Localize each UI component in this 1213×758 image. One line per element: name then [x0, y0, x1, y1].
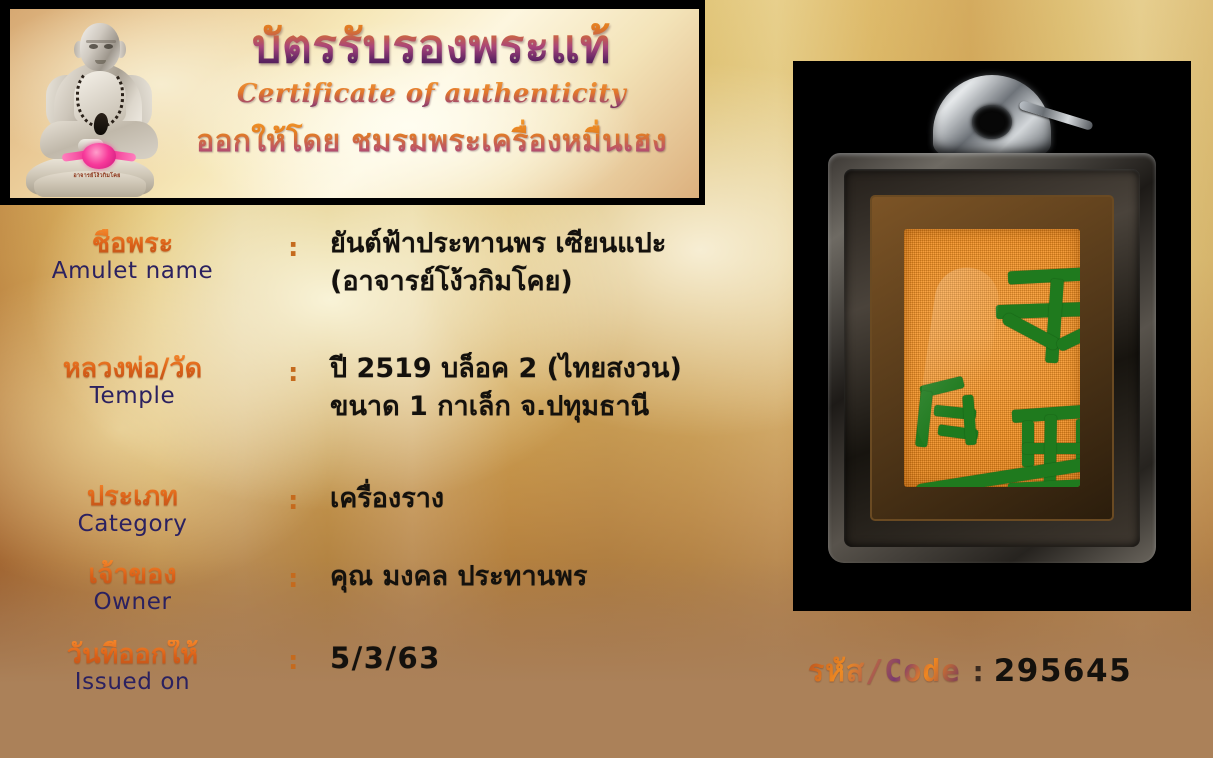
certificate-title-thai: บัตรรับรองพระแท้	[170, 15, 693, 73]
amulet-orange-cloth	[904, 229, 1080, 487]
field-separator: :	[288, 564, 298, 594]
field-label-amulet-name: ชื่อพระ Amulet name	[0, 229, 265, 284]
header-banner-inner: อาจารย์โง้วกิมโคย บัตรรับรองพระแท้ Certi…	[10, 9, 699, 198]
glyph-stroke	[962, 395, 976, 446]
amulet-object	[828, 153, 1156, 563]
field-value-category: เครื่องราง	[330, 480, 790, 518]
field-value-issued-on: 5/3/63	[330, 638, 790, 679]
header-banner: อาจารย์โง้วกิมโคย บัตรรับรองพระแท้ Certi…	[0, 0, 705, 205]
field-label-owner: เจ้าของ Owner	[0, 560, 265, 615]
field-value-line: 5/3/63	[330, 638, 790, 679]
header-text-block: บัตรรับรองพระแท้ Certificate of authenti…	[170, 15, 693, 165]
glyph-stroke	[1008, 266, 1080, 284]
field-label-issued-on: วันที่ออกให้ Issued on	[0, 640, 265, 695]
field-value-line: (อาจารย์โง้วกิมโคย)	[330, 263, 790, 301]
amulet-case-outer	[828, 153, 1156, 563]
amulet-case-rim	[870, 195, 1114, 521]
field-label-english: Temple	[0, 384, 265, 409]
field-label-english: Amulet name	[0, 259, 265, 284]
field-label-temple: หลวงพ่อ/วัด Temple	[0, 354, 265, 409]
field-label-english: Category	[0, 512, 265, 537]
certificate-page: อาจารย์โง้วกิมโคย บัตรรับรองพระแท้ Certi…	[0, 0, 1213, 758]
code-value: 295645	[994, 653, 1132, 689]
field-label-thai: เจ้าของ	[0, 560, 265, 589]
code-label: รหัส/Code	[808, 648, 961, 695]
pink-pompom	[82, 143, 116, 169]
statue-plaque-text: อาจารย์โง้วกิมโคย	[62, 173, 132, 181]
field-label-thai: ชื่อพระ	[0, 229, 265, 258]
field-value-line: คุณ มงคล ประทานพร	[330, 558, 790, 596]
field-value-owner: คุณ มงคล ประทานพร	[330, 558, 790, 596]
monk-statue-image: อาจารย์โง้วกิมโคย	[16, 13, 162, 198]
field-label-thai: ประเภท	[0, 482, 265, 511]
glyph-stroke	[1076, 419, 1080, 463]
field-separator: :	[288, 486, 298, 516]
field-label-thai: หลวงพ่อ/วัด	[0, 354, 265, 383]
amulet-hanger-hole	[972, 105, 1012, 139]
code-separator: :	[973, 655, 984, 688]
field-value-line: เครื่องราง	[330, 480, 790, 518]
field-value-line: ปี 2519 บล็อค 2 (ไทยสงวน)	[330, 350, 790, 388]
field-label-category: ประเภท Category	[0, 482, 265, 537]
certificate-title-english: Certificate of authenticity	[170, 79, 693, 109]
amulet-photo-frame	[793, 61, 1191, 611]
statue-brow	[86, 40, 116, 43]
field-separator: :	[288, 358, 298, 388]
field-separator: :	[288, 233, 298, 263]
glyph-stroke	[915, 391, 933, 448]
statue-left-eye	[89, 44, 98, 49]
amulet-case-middle	[844, 169, 1140, 547]
field-value-line: ยันต์ฟ้าประทานพร เซียนแปะ	[330, 225, 790, 263]
field-value-amulet-name: ยันต์ฟ้าประทานพร เซียนแปะ (อาจารย์โง้วกิ…	[330, 225, 790, 302]
certificate-code: รหัส/Code : 295645	[808, 648, 1132, 695]
field-label-english: Issued on	[0, 670, 265, 695]
field-label-english: Owner	[0, 590, 265, 615]
field-separator: :	[288, 646, 298, 676]
certificate-issuer-thai: ออกให้โดย ชมรมพระเครื่องหมื่นเฮง	[170, 118, 693, 165]
statue-right-eye	[104, 44, 113, 49]
field-value-temple: ปี 2519 บล็อค 2 (ไทยสงวน) ขนาด 1 กาเล็ก …	[330, 350, 790, 427]
field-value-line: ขนาด 1 กาเล็ก จ.ปทุมธานี	[330, 388, 790, 426]
field-label-thai: วันที่ออกให้	[0, 640, 265, 669]
